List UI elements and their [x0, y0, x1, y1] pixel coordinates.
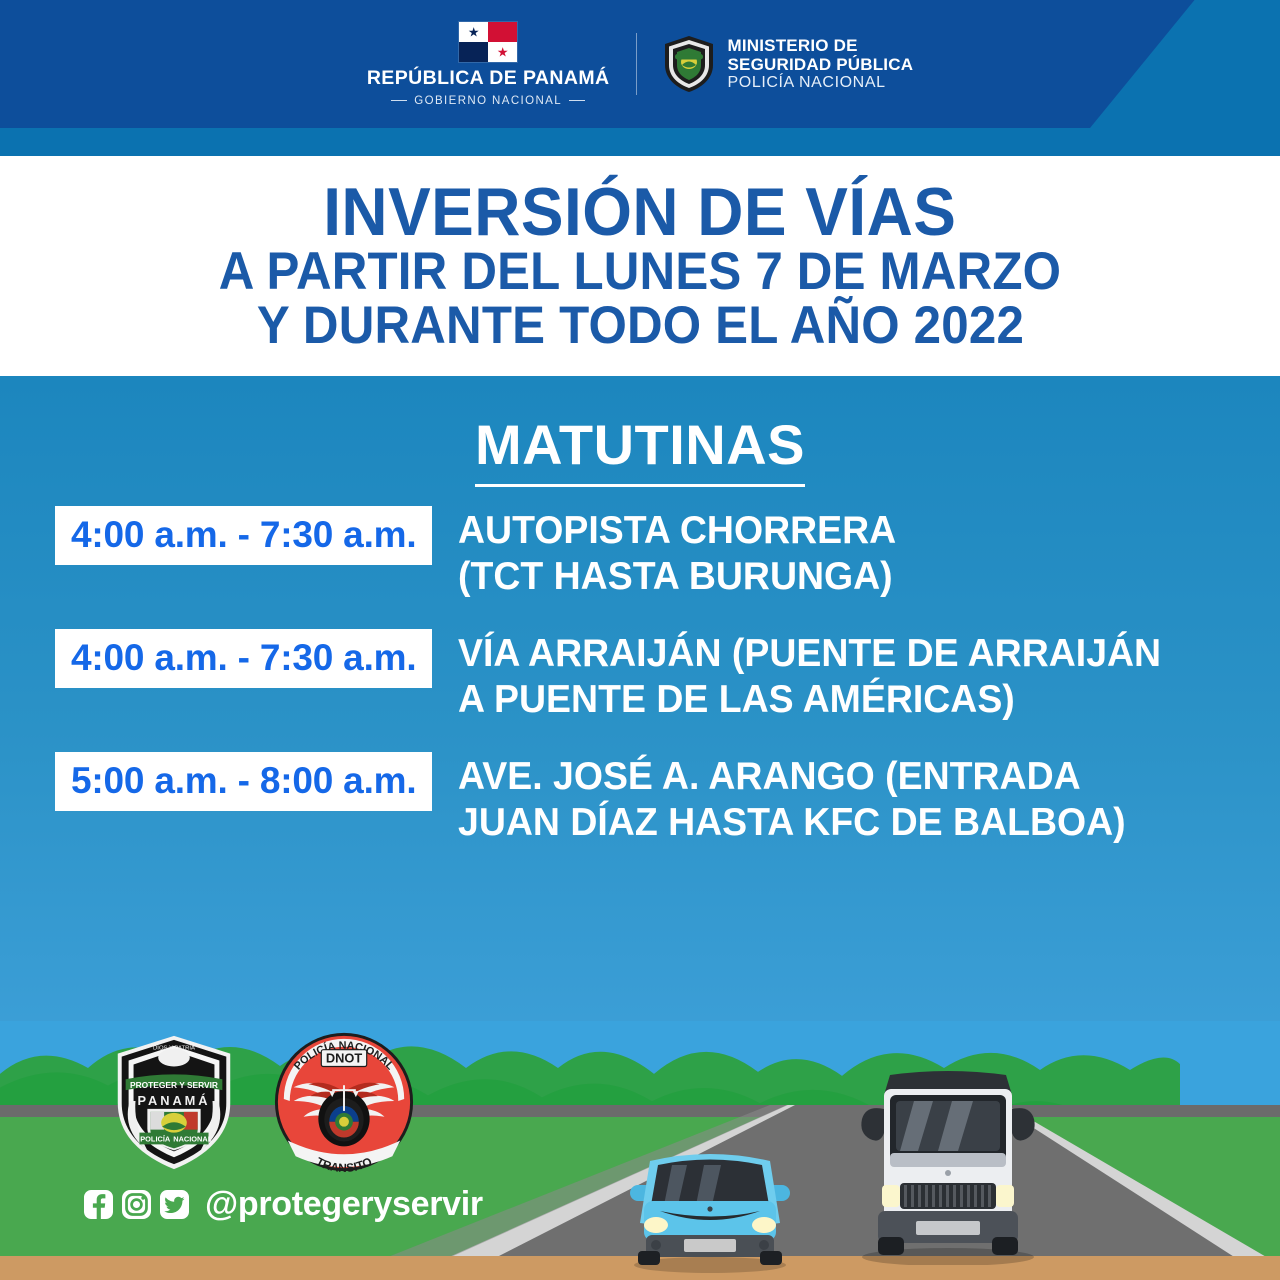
- time-badge: 4:00 a.m. - 7:30 a.m.: [55, 506, 432, 565]
- ministry-line-3: POLICÍA NACIONAL: [728, 74, 914, 92]
- page-subtitle-2: Y DURANTE TODO EL AÑO 2022: [256, 299, 1023, 353]
- badge-country-text: PANAMÁ: [137, 1093, 210, 1108]
- government-subtitle-text: GOBIERNO NACIONAL: [414, 95, 562, 107]
- location-line-1: VÍA ARRAIJÁN (PUENTE DE ARRAIJÁN: [458, 631, 1161, 677]
- badge-dnot-text: DNOT: [326, 1051, 362, 1066]
- page-header: ★ ★ REPÚBLICA DE PANAMÁ GOBIERNO NACIONA…: [0, 0, 1280, 156]
- dnot-transit-badge-icon: POLICÍA NACIONAL DNOT: [270, 1028, 418, 1176]
- ministry-line-2: SEGURIDAD PÚBLICA: [728, 55, 914, 74]
- government-subtitle: GOBIERNO NACIONAL: [391, 95, 585, 107]
- title-band: INVERSIÓN DE VÍAS A PARTIR DEL LUNES 7 D…: [0, 156, 1280, 376]
- police-national-badge-icon: DIOS Y PATRIA PROTEGER Y SERVIR PANAMÁ P…: [100, 1028, 248, 1176]
- badge-bottom-right-text: NACIONAL: [173, 1134, 212, 1143]
- dash-right-icon: [569, 100, 585, 101]
- badge-ribbon-text: PROTEGER Y SERVIR: [130, 1080, 218, 1090]
- twitter-icon[interactable]: [160, 1190, 189, 1219]
- location-line-1: AVE. JOSÉ A. ARANGO (ENTRADA: [458, 754, 1126, 800]
- location-line-2: A PUENTE DE LAS AMÉRICAS): [458, 677, 1161, 723]
- facebook-icon[interactable]: [84, 1190, 113, 1219]
- panama-flag-icon: ★ ★: [459, 22, 517, 62]
- location-text: AVE. JOSÉ A. ARANGO (ENTRADA JUAN DÍAZ H…: [458, 754, 1126, 846]
- agency-badges: DIOS Y PATRIA PROTEGER Y SERVIR PANAMÁ P…: [100, 1028, 418, 1176]
- ministry-line-1: MINISTERIO DE: [728, 36, 914, 55]
- location-text: AUTOPISTA CHORRERA (TCT HASTA BURUNGA): [458, 508, 896, 600]
- social-handle[interactable]: @protegeryservir: [205, 1185, 483, 1224]
- ministry-brand: MINISTERIO DE SEGURIDAD PÚBLICA POLICÍA …: [637, 35, 914, 93]
- badge-motto-text: DIOS Y PATRIA: [153, 1046, 195, 1052]
- white-van-icon: [848, 1065, 1048, 1265]
- time-badge: 5:00 a.m. - 8:00 a.m.: [55, 752, 432, 811]
- schedule-row: 5:00 a.m. - 8:00 a.m. AVE. JOSÉ A. ARANG…: [0, 752, 1280, 846]
- schedule-row: 4:00 a.m. - 7:30 a.m. AUTOPISTA CHORRERA…: [0, 506, 1280, 600]
- schedule-section: MATUTINAS 4:00 a.m. - 7:30 a.m. AUTOPIST…: [0, 376, 1280, 1021]
- page-subtitle-1: A PARTIR DEL LUNES 7 DE MARZO: [219, 245, 1061, 299]
- government-brand: ★ ★ REPÚBLICA DE PANAMÁ GOBIERNO NACIONA…: [367, 22, 636, 107]
- poster-root: ★ ★ REPÚBLICA DE PANAMÁ GOBIERNO NACIONA…: [0, 0, 1280, 1280]
- government-name: REPÚBLICA DE PANAMÁ: [367, 67, 610, 90]
- police-shield-icon: [663, 35, 715, 93]
- dash-left-icon: [391, 100, 407, 101]
- schedule-row: 4:00 a.m. - 7:30 a.m. VÍA ARRAIJÁN (PUEN…: [0, 629, 1280, 723]
- location-line-1: AUTOPISTA CHORRERA: [458, 508, 896, 554]
- social-links[interactable]: @protegeryservir: [84, 1185, 483, 1224]
- blue-car-icon: [620, 1139, 800, 1274]
- location-line-2: JUAN DÍAZ HASTA KFC DE BALBOA): [458, 800, 1126, 846]
- page-title: INVERSIÓN DE VÍAS: [323, 179, 956, 246]
- badge-bottom-left-text: POLICÍA: [140, 1134, 171, 1143]
- location-text: VÍA ARRAIJÁN (PUENTE DE ARRAIJÁN A PUENT…: [458, 631, 1161, 723]
- location-line-2: (TCT HASTA BURUNGA): [458, 554, 896, 600]
- time-badge: 4:00 a.m. - 7:30 a.m.: [55, 629, 432, 688]
- schedule-list: 4:00 a.m. - 7:30 a.m. AUTOPISTA CHORRERA…: [0, 506, 1280, 875]
- header-light-band: [0, 128, 1280, 156]
- section-heading: MATUTINAS: [475, 412, 805, 487]
- instagram-icon[interactable]: [122, 1190, 151, 1219]
